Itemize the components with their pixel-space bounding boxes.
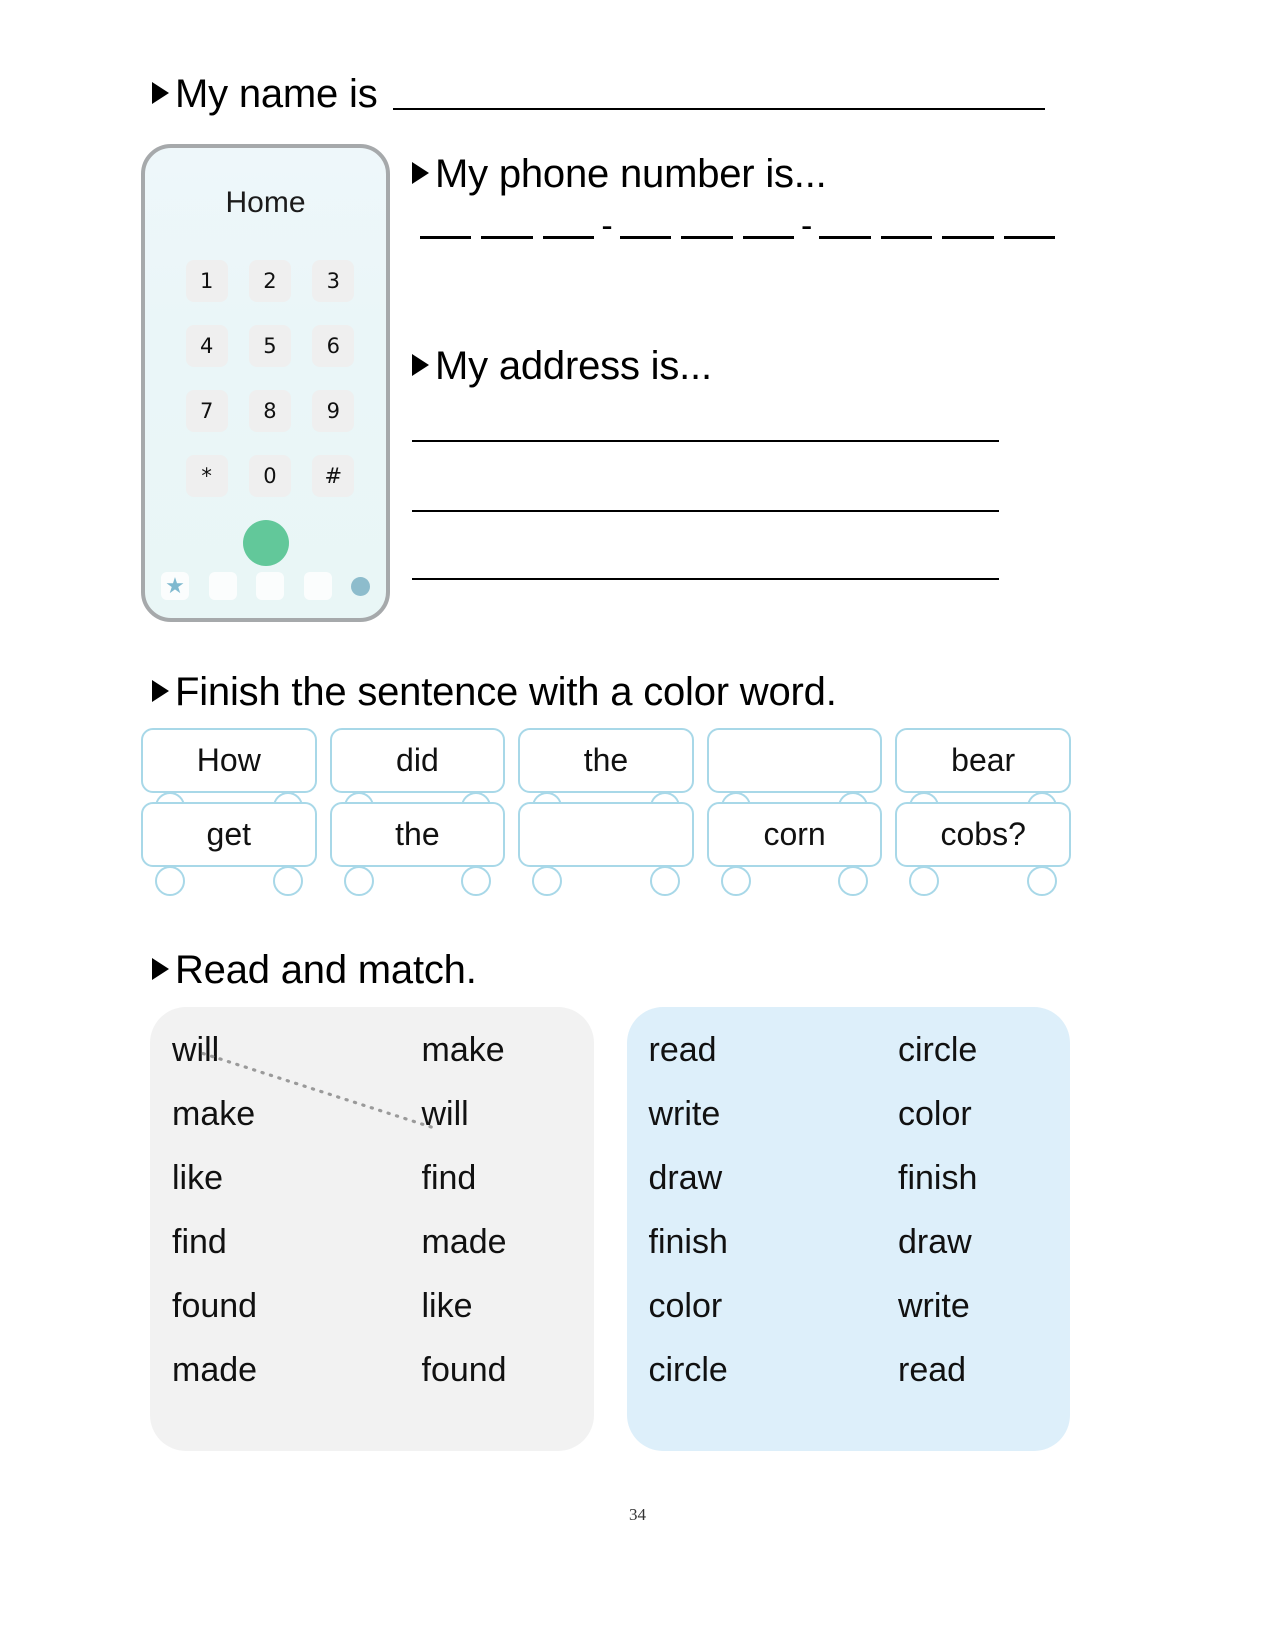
call-button-icon[interactable] (243, 520, 289, 566)
wheel-left-icon (909, 866, 939, 896)
word-cart-cell: the (330, 802, 506, 867)
wheel-right-icon (650, 866, 680, 896)
match-panel-grey: will make make will like find find made … (150, 1007, 594, 1451)
wheel-right-icon (1027, 866, 1057, 896)
name-heading: My name is (152, 72, 378, 117)
match-word-left[interactable]: find (172, 1225, 227, 1259)
keypad-key-hash[interactable]: # (312, 455, 354, 497)
dock-star-icon[interactable]: ★ (161, 572, 189, 600)
address-heading: My address is... (412, 344, 712, 389)
address-answer-line-2[interactable] (412, 510, 999, 512)
match-row: make will (172, 1097, 572, 1161)
match-row: find made (172, 1225, 572, 1289)
dock-slot-blank-3[interactable] (304, 572, 332, 600)
word-box[interactable]: corn (707, 802, 883, 867)
dock-slot-blank-1[interactable] (209, 572, 237, 600)
word-cart-cell: did (330, 728, 506, 793)
phone-blank-9[interactable] (942, 236, 993, 239)
match-word-left[interactable]: draw (649, 1161, 723, 1195)
word-cart-cell: How (141, 728, 317, 793)
triangle-bullet-icon (412, 354, 429, 376)
keypad-key-8[interactable]: 8 (249, 390, 291, 432)
worksheet-page: My name is Home 1 2 3 4 5 6 7 8 9 * 0 # … (0, 0, 1275, 1650)
match-word-left[interactable]: will (172, 1033, 219, 1067)
wheel-right-icon (461, 866, 491, 896)
wheel-left-icon (155, 866, 185, 896)
match-word-left[interactable]: circle (649, 1353, 728, 1387)
phone-keypad: 1 2 3 4 5 6 7 8 9 * 0 # (175, 260, 365, 520)
match-panel-blue: read circle write color draw finish fini… (627, 1007, 1071, 1451)
triangle-bullet-icon (152, 680, 169, 702)
phone-blank-8[interactable] (881, 236, 932, 239)
match-word-left[interactable]: made (172, 1353, 257, 1387)
match-word-right[interactable]: draw (898, 1225, 1048, 1259)
word-cart-grid: How did the bear get (141, 728, 1071, 876)
phone-number-heading-label: My phone number is... (435, 152, 827, 197)
word-cart-row-1: How did the bear (141, 728, 1071, 793)
word-box-blank[interactable] (518, 802, 694, 867)
triangle-bullet-icon (412, 162, 429, 184)
match-row: read circle (649, 1033, 1049, 1097)
wheel-left-icon (721, 866, 751, 896)
cart-wheels (330, 866, 506, 892)
match-word-right[interactable]: will (422, 1097, 572, 1131)
dock-dot-icon[interactable] (351, 577, 370, 596)
read-and-match-heading-label: Read and match. (175, 948, 477, 993)
match-row: finish draw (649, 1225, 1049, 1289)
keypad-key-6[interactable]: 6 (312, 325, 354, 367)
name-answer-line[interactable] (393, 108, 1045, 110)
word-cart-cell (707, 728, 883, 793)
match-word-left[interactable]: like (172, 1161, 223, 1195)
phone-dash-1: - (599, 218, 614, 235)
match-word-left[interactable]: read (649, 1033, 717, 1067)
match-row: like find (172, 1161, 572, 1225)
match-row: color write (649, 1289, 1049, 1353)
word-cart-cell (518, 802, 694, 867)
match-row: will make (172, 1033, 572, 1097)
match-row: write color (649, 1097, 1049, 1161)
word-box[interactable]: did (330, 728, 506, 793)
phone-number-heading: My phone number is... (412, 152, 827, 197)
match-word-right[interactable]: made (422, 1225, 572, 1259)
phone-dock: ★ (161, 572, 370, 600)
page-number: 34 (0, 1505, 1275, 1525)
phone-screen-label: Home (145, 186, 386, 220)
keypad-key-9[interactable]: 9 (312, 390, 354, 432)
keypad-key-1[interactable]: 1 (186, 260, 228, 302)
keypad-key-7[interactable]: 7 (186, 390, 228, 432)
match-word-right[interactable]: find (422, 1161, 572, 1195)
match-word-right[interactable]: like (422, 1289, 572, 1323)
match-word-right[interactable]: circle (898, 1033, 1048, 1067)
word-cart-cell: bear (895, 728, 1071, 793)
phone-blank-1[interactable] (420, 236, 471, 239)
match-word-left[interactable]: finish (649, 1225, 728, 1259)
cart-wheels (141, 866, 317, 892)
cart-wheels (707, 866, 883, 892)
finish-sentence-heading: Finish the sentence with a color word. (152, 670, 837, 715)
cart-wheels (895, 866, 1071, 892)
keypad-key-5[interactable]: 5 (249, 325, 291, 367)
phone-blank-3[interactable] (543, 236, 594, 239)
phone-blank-7[interactable] (819, 236, 870, 239)
match-word-right[interactable]: finish (898, 1161, 1048, 1195)
match-word-left[interactable]: found (172, 1289, 257, 1323)
match-panels: will make make will like find find made … (150, 1007, 1070, 1451)
word-box[interactable]: get (141, 802, 317, 867)
triangle-bullet-icon (152, 958, 169, 980)
match-word-left[interactable]: color (649, 1289, 723, 1323)
keypad-key-2[interactable]: 2 (249, 260, 291, 302)
word-box[interactable]: bear (895, 728, 1071, 793)
word-box-blank[interactable] (707, 728, 883, 793)
word-cart-cell: the (518, 728, 694, 793)
word-box[interactable]: How (141, 728, 317, 793)
dock-slot-blank-2[interactable] (256, 572, 284, 600)
match-word-right[interactable]: found (422, 1353, 572, 1387)
address-answer-line-1[interactable] (412, 440, 999, 442)
match-row: draw finish (649, 1161, 1049, 1225)
match-word-right[interactable]: read (898, 1353, 1048, 1387)
phone-illustration: Home 1 2 3 4 5 6 7 8 9 * 0 # ★ (141, 144, 390, 622)
triangle-bullet-icon (152, 82, 169, 104)
match-word-right[interactable]: make (422, 1033, 572, 1067)
match-word-left[interactable]: write (649, 1097, 721, 1131)
word-box[interactable]: the (518, 728, 694, 793)
match-word-right[interactable]: write (898, 1289, 1048, 1323)
phone-blank-6[interactable] (743, 236, 794, 239)
match-row: made found (172, 1353, 572, 1417)
wheel-right-icon (838, 866, 868, 896)
address-heading-label: My address is... (435, 344, 712, 389)
phone-number-blanks: - - (415, 222, 1060, 239)
word-box[interactable]: cobs? (895, 802, 1071, 867)
phone-blank-2[interactable] (481, 236, 532, 239)
cart-wheels (518, 866, 694, 892)
wheel-right-icon (273, 866, 303, 896)
word-cart-cell: get (141, 802, 317, 867)
wheel-left-icon (344, 866, 374, 896)
word-cart-cell: cobs? (895, 802, 1071, 867)
keypad-key-star[interactable]: * (186, 455, 228, 497)
phone-dash-2: - (799, 218, 814, 235)
keypad-key-4[interactable]: 4 (186, 325, 228, 367)
word-cart-row-2: get the corn cobs? (141, 802, 1071, 867)
wheel-left-icon (532, 866, 562, 896)
keypad-key-0[interactable]: 0 (249, 455, 291, 497)
finish-sentence-heading-label: Finish the sentence with a color word. (175, 670, 837, 715)
match-word-right[interactable]: color (898, 1097, 1048, 1131)
name-heading-label: My name is (175, 72, 378, 117)
phone-blank-5[interactable] (681, 236, 732, 239)
match-row: found like (172, 1289, 572, 1353)
address-answer-line-3[interactable] (412, 578, 999, 580)
phone-blank-10[interactable] (1004, 236, 1055, 239)
read-and-match-heading: Read and match. (152, 948, 477, 993)
match-row: circle read (649, 1353, 1049, 1417)
word-box[interactable]: the (330, 802, 506, 867)
word-cart-cell: corn (707, 802, 883, 867)
match-word-left[interactable]: make (172, 1097, 255, 1131)
keypad-key-3[interactable]: 3 (312, 260, 354, 302)
phone-blank-4[interactable] (620, 236, 671, 239)
